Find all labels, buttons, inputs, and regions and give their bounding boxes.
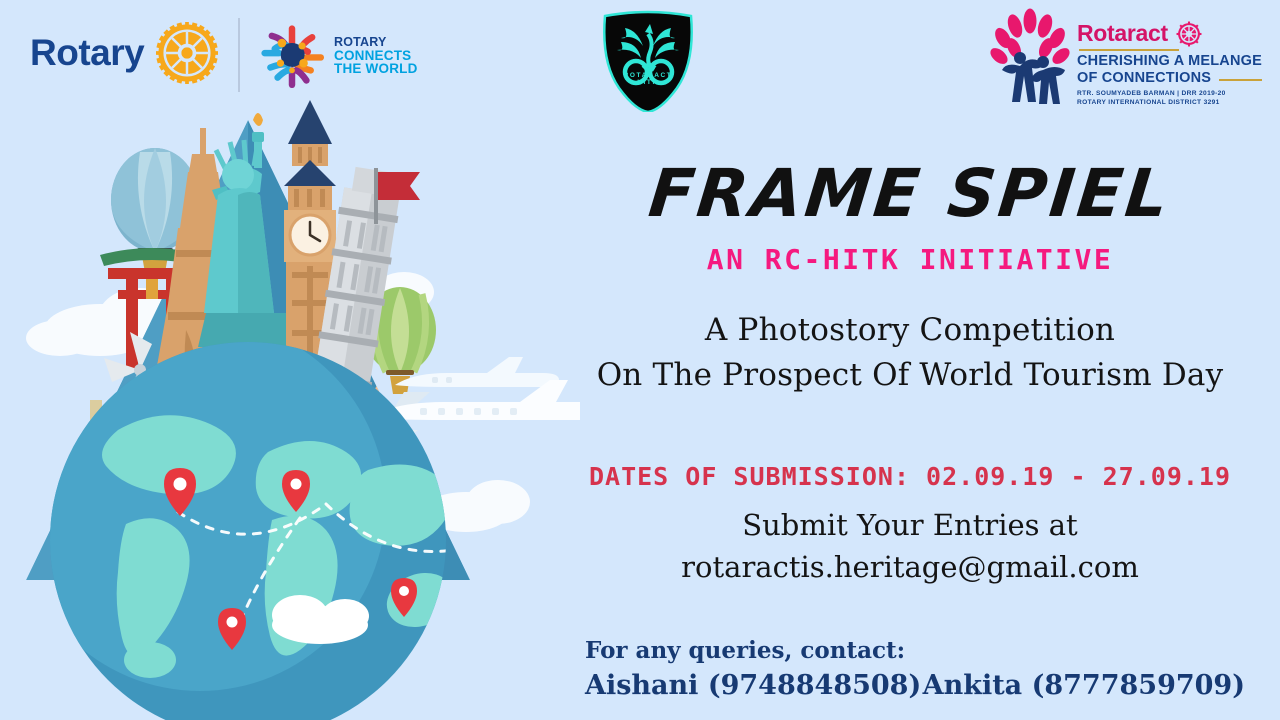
page-title: FRAME SPIEL [556, 155, 1264, 232]
contact-person-2: Ankita (8777859709) [923, 670, 1245, 701]
rcw-line1: ROTARY [334, 36, 418, 49]
submission-dates: DATES OF SUBMISSION: 02.09.19 - 27.09.19 [560, 462, 1260, 491]
logo-divider [238, 18, 240, 92]
rcw-line3: THE WORLD [334, 62, 418, 76]
poster-canvas: Rotary [0, 0, 1280, 720]
poster-content: FRAME SPIEL AN RC-HITK INITIATIVE A Phot… [560, 0, 1260, 720]
globe-cloud [272, 595, 369, 644]
world-travel-illustration [0, 0, 580, 720]
rotary-connects-the-world-icon [256, 20, 328, 92]
submit-label: Submit Your Entries at [560, 508, 1260, 542]
rotary-connects-the-world-text: ROTARY CONNECTS THE WORLD [334, 36, 418, 76]
page-subtitle: AN RC-HITK INITIATIVE [560, 243, 1260, 276]
contact-heading: For any queries, contact: [585, 637, 905, 664]
rotary-logo: Rotary [30, 22, 218, 84]
rotary-wheel-icon [156, 22, 218, 84]
contact-list: Aishani (9748848508) Ankita (8777859709) [585, 670, 1245, 701]
tagline-line1: A Photostory Competition [560, 308, 1260, 353]
tagline-line2: On The Prospect Of World Tourism Day [560, 353, 1260, 398]
rotary-wordmark: Rotary [30, 32, 144, 74]
rcw-line2: CONNECTS [334, 49, 418, 63]
tagline: A Photostory Competition On The Prospect… [560, 308, 1260, 398]
submit-email[interactable]: rotaractis.heritage@gmail.com [560, 550, 1260, 584]
rotary-connects-the-world-logo: ROTARY CONNECTS THE WORLD [256, 20, 418, 92]
contact-person-1: Aishani (9748848508) [585, 670, 923, 701]
